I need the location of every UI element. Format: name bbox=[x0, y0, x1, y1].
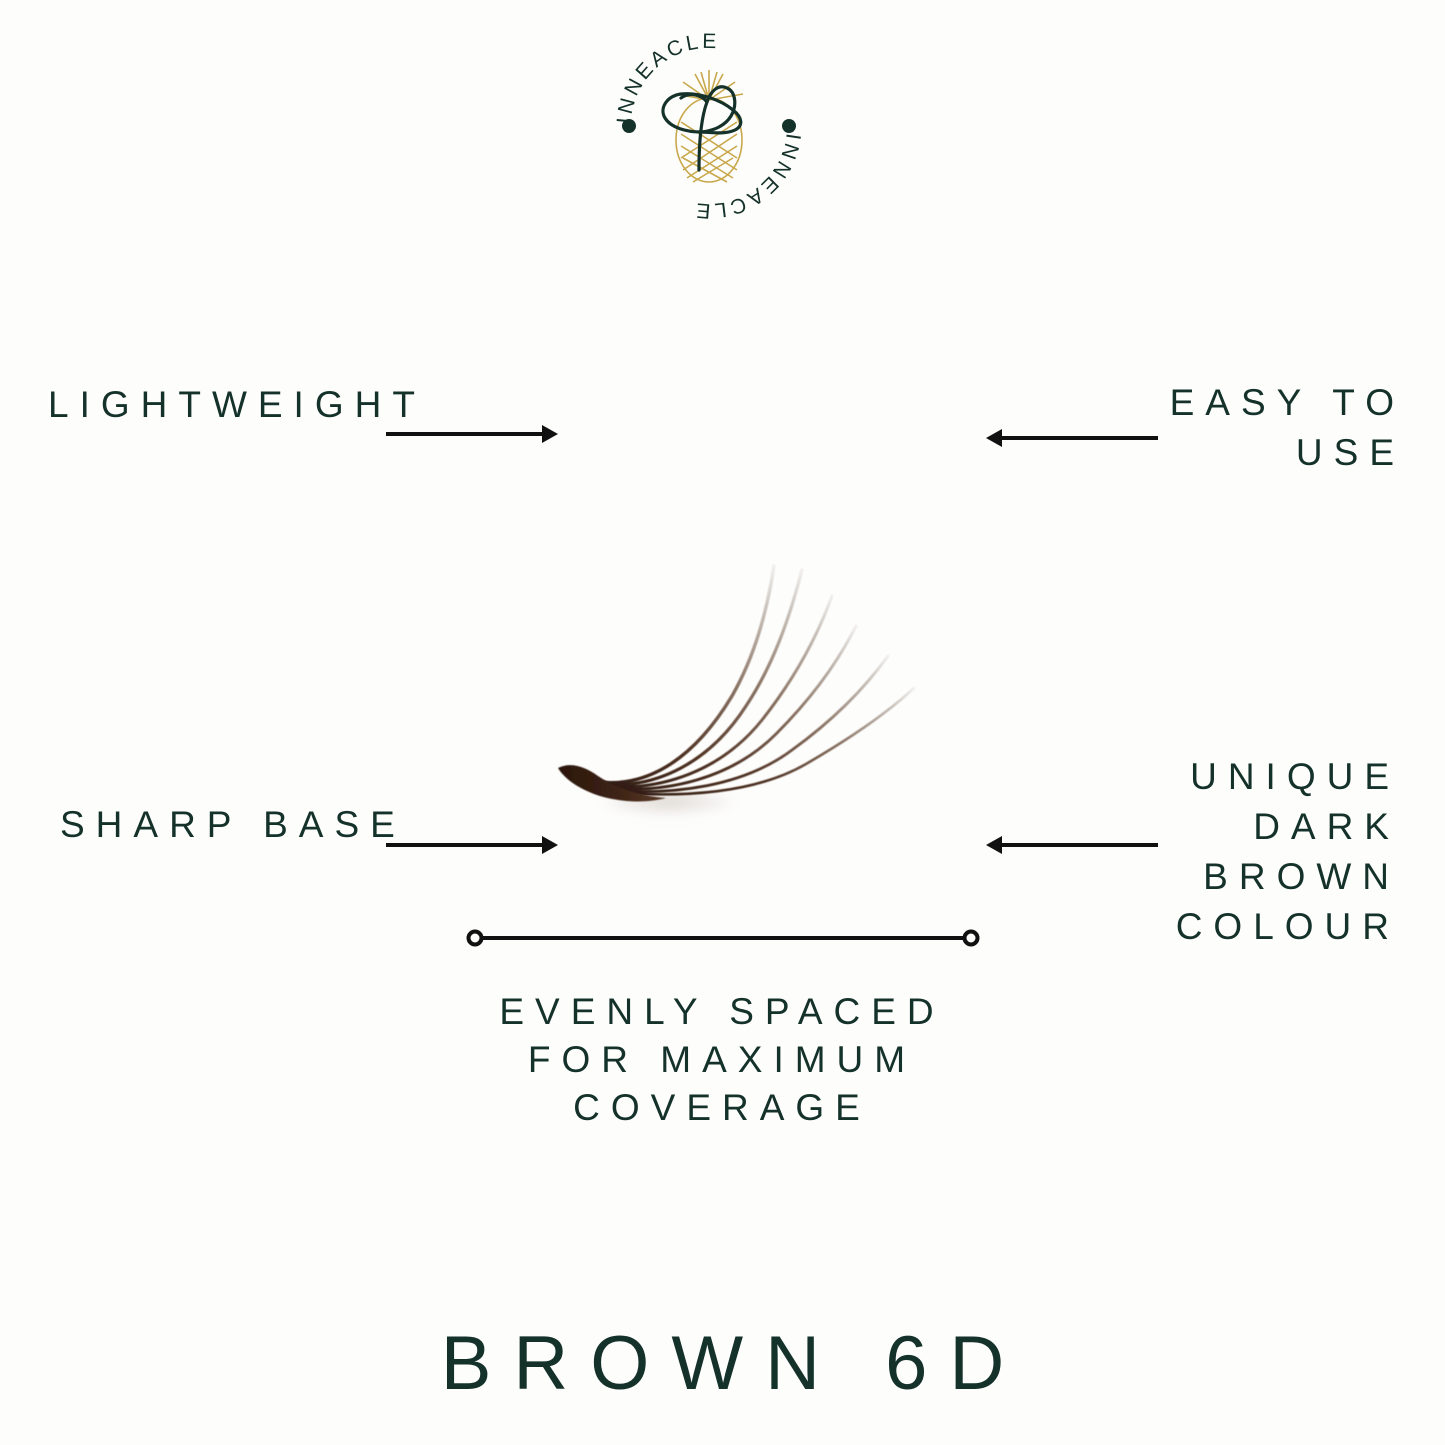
infographic-canvas: PINNEACLE PINNEACLE LIGHTWEIGHT EASY TO … bbox=[0, 0, 1445, 1445]
lash-strand-2 bbox=[600, 570, 802, 785]
arrow-right-sharp-base bbox=[386, 831, 562, 859]
product-title: BROWN 6D bbox=[0, 1318, 1445, 1410]
arrow-left-unique-colour bbox=[982, 831, 1158, 859]
lash-strand-4 bbox=[604, 626, 856, 789]
ring-text-top: PINNEACLE bbox=[603, 22, 720, 125]
measure-endpoint-left bbox=[469, 932, 482, 945]
brand-logo: PINNEACLE PINNEACLE bbox=[603, 22, 815, 222]
arrow-right-lightweight bbox=[386, 420, 562, 448]
pineapple-icon bbox=[675, 70, 743, 182]
ring-dot-left bbox=[622, 119, 636, 133]
lash-strand-3 bbox=[602, 596, 832, 787]
lash-strands bbox=[598, 566, 914, 794]
measure-endpoint-right bbox=[965, 932, 978, 945]
ring-dot-right bbox=[782, 119, 796, 133]
arrow-left-easy-to-use bbox=[982, 424, 1158, 452]
lash-strand-5 bbox=[606, 656, 888, 792]
feature-label-evenly-spaced: EVENLY SPACED FOR MAXIMUM COVERAGE bbox=[462, 988, 982, 1132]
span-measure-line-evenly-spaced bbox=[466, 925, 980, 951]
product-image-lash-fan bbox=[540, 530, 960, 840]
lash-strand-1 bbox=[598, 566, 774, 783]
